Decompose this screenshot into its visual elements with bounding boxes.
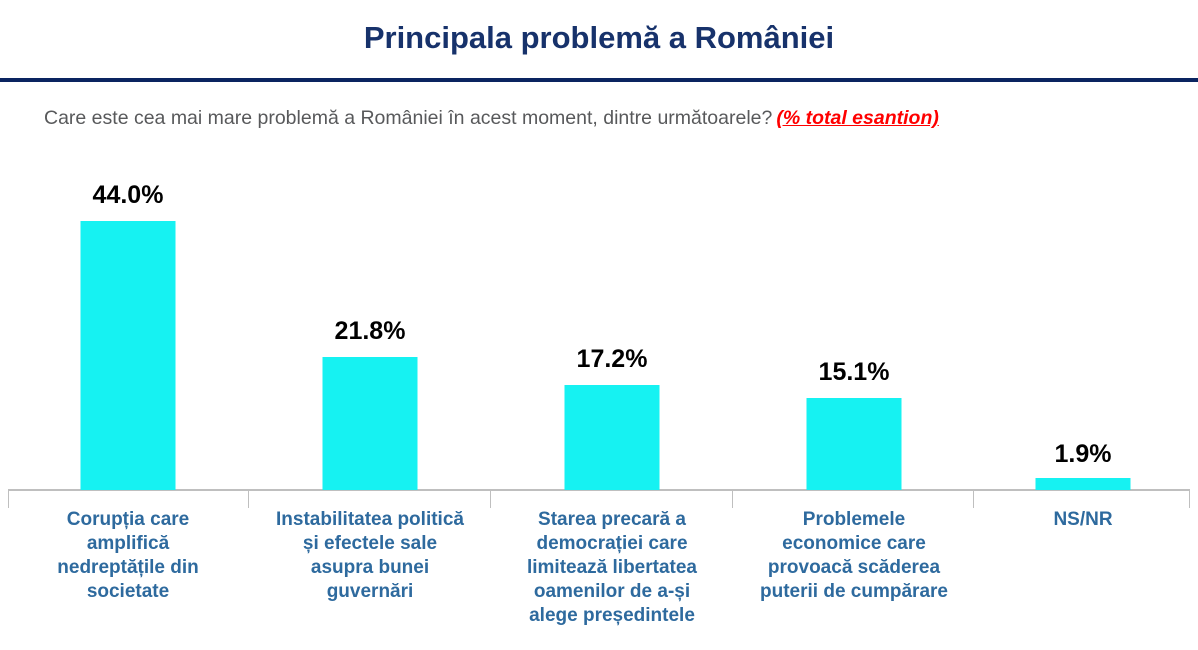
category-label-3-line-3: puterii de cumpărare xyxy=(738,580,970,604)
axis-tick-3 xyxy=(732,491,733,508)
bar-1[interactable] xyxy=(323,357,418,490)
bar-2[interactable] xyxy=(565,385,660,490)
bar-group-1: 21.8% Instabilitatea politică și efectel… xyxy=(250,0,490,650)
category-label-2-line-2: limitează libertatea xyxy=(496,556,728,580)
bar-value-label-3: 15.1% xyxy=(819,358,890,387)
category-label-2-line-1: democrației care xyxy=(496,532,728,556)
category-label-1-line-2: asupra bunei xyxy=(254,556,486,580)
category-label-1-line-0: Instabilitatea politică xyxy=(254,508,486,532)
category-label-3-line-2: provoacă scăderea xyxy=(738,556,970,580)
category-label-0: Corupția care amplifică nedreptățile din… xyxy=(12,508,244,604)
bar-0[interactable] xyxy=(81,221,176,490)
bar-value-label-1: 21.8% xyxy=(335,317,406,346)
category-label-1-line-1: și efectele sale xyxy=(254,532,486,556)
category-label-3-line-0: Problemele xyxy=(738,508,970,532)
category-label-1: Instabilitatea politică și efectele sale… xyxy=(254,508,486,604)
chart-plot-area: Principala problemă a României Care este… xyxy=(0,0,1198,650)
bar-group-3: 15.1% Problemele economice care provoacă… xyxy=(734,0,974,650)
category-label-0-line-0: Corupția care xyxy=(12,508,244,532)
category-label-2: Starea precară a democrației care limite… xyxy=(496,508,728,628)
bar-4[interactable] xyxy=(1036,478,1131,490)
category-label-2-line-0: Starea precară a xyxy=(496,508,728,532)
bar-value-label-2: 17.2% xyxy=(577,345,648,374)
category-label-3: Problemele economice care provoacă scăde… xyxy=(738,508,970,604)
bar-value-label-0: 44.0% xyxy=(93,181,164,210)
category-label-2-line-3: oamenilor de a-și xyxy=(496,580,728,604)
category-label-0-line-2: nedreptățile din xyxy=(12,556,244,580)
bar-group-0: 44.0% Corupția care amplifică nedreptăți… xyxy=(8,0,248,650)
bar-value-label-4: 1.9% xyxy=(1055,440,1112,469)
axis-tick-2 xyxy=(490,491,491,508)
category-label-3-line-1: economice care xyxy=(738,532,970,556)
bar-group-2: 17.2% Starea precară a democrației care … xyxy=(492,0,732,650)
category-label-1-line-3: guvernări xyxy=(254,580,486,604)
category-label-0-line-3: societate xyxy=(12,580,244,604)
category-label-4-line-0: NS/NR xyxy=(983,508,1183,532)
category-label-0-line-1: amplifică xyxy=(12,532,244,556)
category-label-4: NS/NR xyxy=(983,508,1183,532)
bar-3[interactable] xyxy=(807,398,902,490)
bar-group-4: 1.9% NS/NR xyxy=(976,0,1190,650)
axis-tick-1 xyxy=(248,491,249,508)
category-label-2-line-4: alege președintele xyxy=(496,604,728,628)
